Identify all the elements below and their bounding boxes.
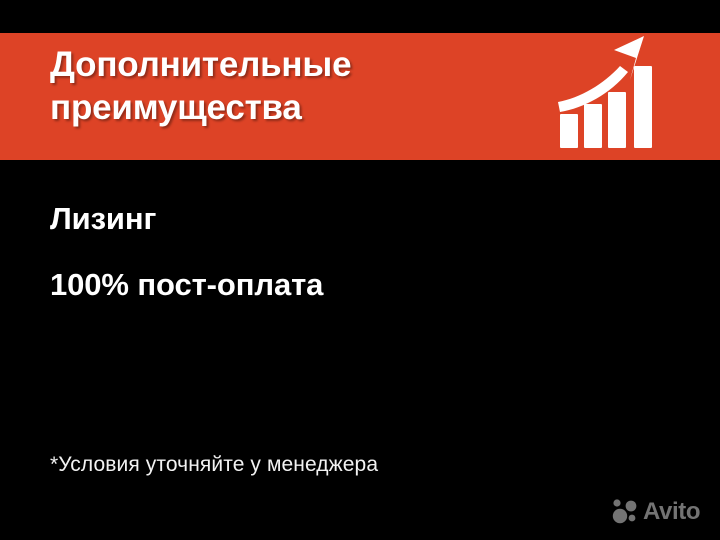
chart-bar-4 (634, 66, 652, 148)
avito-dot-small-top (613, 499, 620, 506)
avito-dot-small-bottom (629, 515, 636, 522)
avito-wordmark: Avito (643, 500, 700, 524)
avito-dot-large (613, 509, 627, 523)
benefit-item-leasing: Лизинг (50, 202, 670, 236)
benefit-item-postpayment: 100% пост-оплата (50, 268, 670, 302)
avito-dots-icon (612, 498, 639, 525)
footnote-text: *Условия уточняйте у менеджера (50, 452, 378, 477)
avito-dot-medium (626, 501, 637, 512)
chart-bar-1 (560, 114, 578, 148)
avito-watermark: Avito (612, 498, 700, 525)
chart-bar-3 (608, 92, 626, 148)
benefits-list: Лизинг 100% пост-оплата (50, 202, 670, 302)
page-title: Дополнительные преимущества (50, 44, 520, 129)
advertisement-card: Дополнительные преимущества Лизинг 100% … (0, 0, 720, 540)
chart-bar-2 (584, 104, 602, 148)
growth-chart-icon (558, 36, 662, 148)
